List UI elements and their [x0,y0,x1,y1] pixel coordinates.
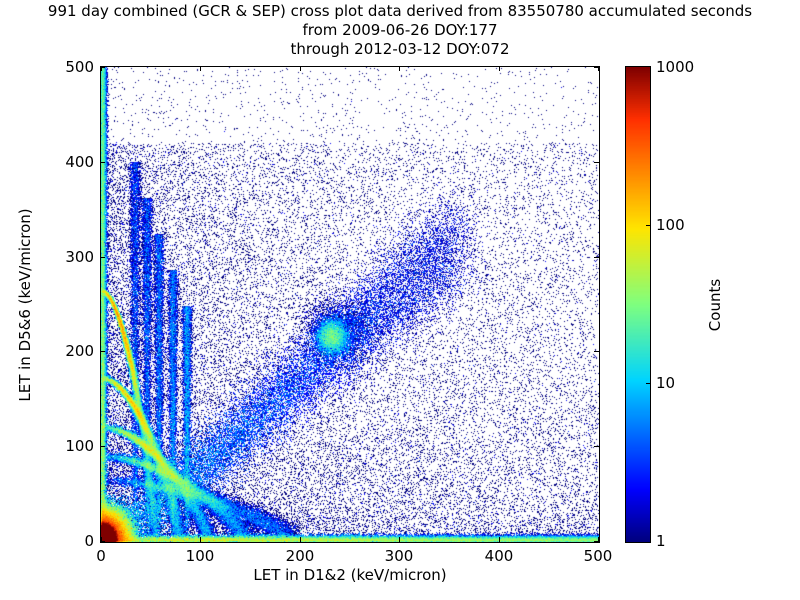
y-tick-mark [594,67,599,68]
y-tick-label: 300 [52,248,94,266]
y-tick-label: 100 [52,437,94,455]
colorbar-tick-label: 100 [656,216,685,234]
density-scatter-canvas [101,67,599,542]
title-line-3: through 2012-03-12 DOY:072 [0,40,800,59]
y-axis-label: LET in D5&6 (keV/micron) [16,208,34,401]
colorbar-tick-mark [646,225,650,226]
x-tick-mark [200,537,201,542]
y-tick-mark [594,257,599,258]
x-tick-mark [499,66,500,71]
colorbar-title: Counts [706,279,724,331]
title-line-2: from 2009-06-26 DOY:177 [0,21,800,40]
y-tick-mark [594,541,599,542]
colorbar-gradient [626,67,650,542]
y-tick-mark [100,541,105,542]
y-tick-label: 500 [52,58,94,76]
y-tick-mark [100,446,105,447]
y-tick-mark [100,257,105,258]
x-tick-label: 300 [385,547,414,565]
x-tick-mark [399,537,400,542]
y-tick-mark [100,67,105,68]
x-tick-label: 200 [286,547,315,565]
figure: 991 day combined (GCR & SEP) cross plot … [0,0,800,600]
colorbar-tick-label: 1 [656,532,666,550]
x-tick-label: 100 [186,547,215,565]
y-tick-mark [100,351,105,352]
x-tick-mark [399,66,400,71]
y-tick-mark [100,162,105,163]
y-tick-mark [594,446,599,447]
x-tick-label: 0 [96,547,106,565]
colorbar [625,66,651,543]
x-axis-label: LET in D1&2 (keV/micron) [100,566,600,584]
y-tick-mark [594,351,599,352]
x-tick-label: 400 [485,547,514,565]
y-tick-mark [594,162,599,163]
colorbar-tick-label: 10 [656,374,675,392]
colorbar-tick-mark [646,383,650,384]
x-tick-mark [499,537,500,542]
y-tick-label: 200 [52,342,94,360]
title-line-1: 991 day combined (GCR & SEP) cross plot … [0,2,800,21]
plot-area [100,66,600,543]
x-tick-mark [300,537,301,542]
colorbar-tick-label: 1000 [656,58,694,76]
x-tick-label: 500 [584,547,613,565]
y-tick-label: 0 [52,532,94,550]
x-tick-mark [200,66,201,71]
y-tick-label: 400 [52,153,94,171]
x-tick-mark [300,66,301,71]
chart-title: 991 day combined (GCR & SEP) cross plot … [0,2,800,59]
